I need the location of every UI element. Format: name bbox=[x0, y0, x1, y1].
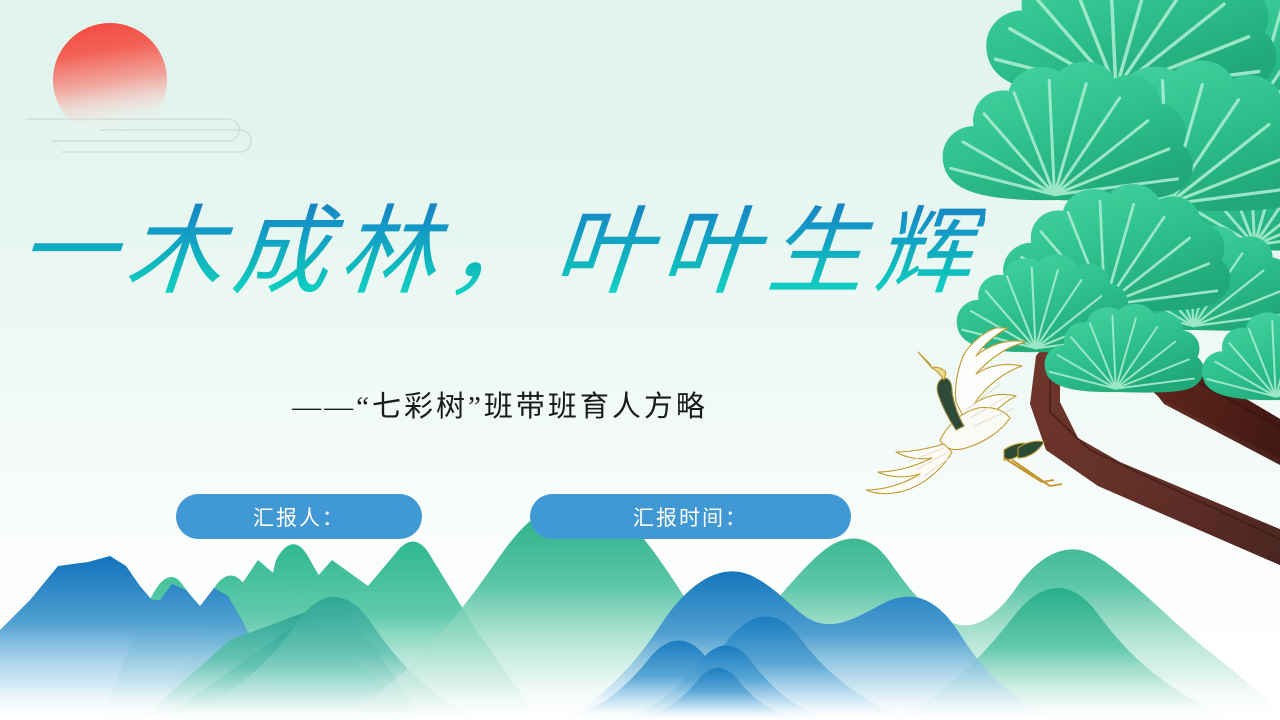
mountain-center-blue-small bbox=[618, 646, 834, 720]
page-title: 一木成林，叶叶生辉 bbox=[13, 196, 986, 310]
mountain-right-blue-main bbox=[560, 571, 1060, 720]
tree-branches bbox=[1030, 40, 1280, 566]
mountain-right-blue-low bbox=[560, 641, 792, 720]
cloud-line-icon bbox=[26, 119, 239, 141]
sun-icon bbox=[53, 23, 167, 137]
reporter-field-label: 汇报人： bbox=[253, 502, 345, 532]
mountain-left-green-main bbox=[150, 542, 540, 720]
subtitle-block: ——“七彩树”班带班育人方略 bbox=[0, 383, 1000, 425]
title-block: 一木成林，叶叶生辉 bbox=[0, 196, 1000, 310]
cloud-line-icon bbox=[62, 130, 251, 152]
mountain-range-layer bbox=[0, 0, 1280, 720]
mountain-left-teal bbox=[140, 610, 440, 720]
mountain-center-blue-bump bbox=[636, 668, 800, 720]
sun-decoration-layer bbox=[0, 0, 1280, 720]
page-subtitle: ——“七彩树”班带班育人方略 bbox=[292, 383, 708, 425]
mountain-left-blue bbox=[0, 556, 300, 720]
mountain-left-teal-round bbox=[172, 597, 480, 720]
mountain-right-green-mid bbox=[890, 588, 1240, 720]
crane-layer bbox=[0, 0, 1280, 720]
pine-tree-layer bbox=[0, 0, 1280, 720]
presentation-slide: 一木成林，叶叶生辉 ——“七彩树”班带班育人方略 汇报人： 汇报时间： bbox=[0, 0, 1280, 720]
mountain-left-green bbox=[100, 544, 400, 720]
mountain-left-teal-peak bbox=[160, 623, 420, 720]
datetime-field-label: 汇报时间： bbox=[633, 502, 748, 532]
datetime-field-button[interactable]: 汇报时间： bbox=[530, 494, 851, 539]
cloud-lines-layer bbox=[0, 0, 1280, 720]
reporter-field-button[interactable]: 汇报人： bbox=[176, 494, 422, 539]
mountain-right-blue-front bbox=[620, 616, 912, 720]
